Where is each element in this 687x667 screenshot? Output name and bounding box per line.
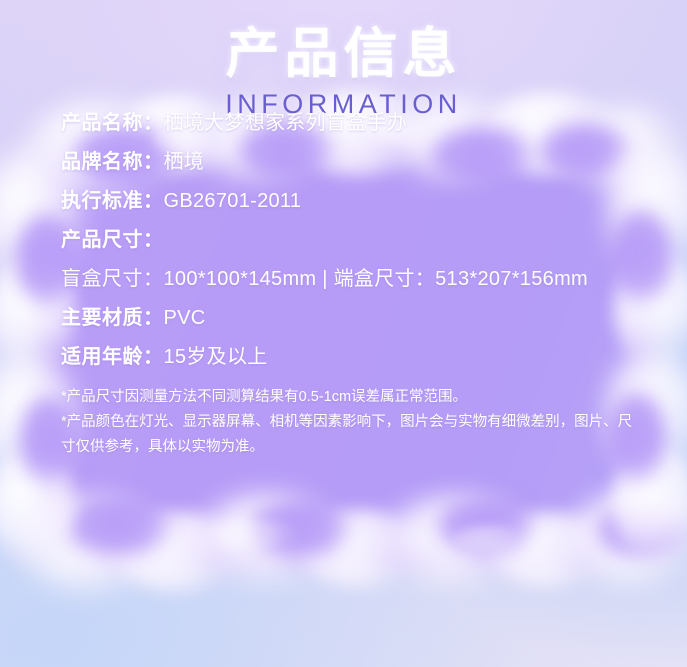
disclaimer-line-1: *产品尺寸因测量方法不同测算结果有0.5-1cm误差属正常范围。 (61, 385, 636, 410)
page-header: 产品信息 INFORMATION (0, 0, 687, 120)
info-value: PVC (164, 307, 206, 329)
info-value: 15岁及以上 (164, 346, 268, 368)
product-info-list: 产品名称：栖境大梦想家系列盲盒手办 品牌名称：栖境 执行标准：GB26701-2… (61, 104, 641, 377)
info-row-material: 主要材质：PVC (61, 299, 641, 338)
info-row-product-size-heading: 产品尺寸： (61, 221, 641, 260)
product-information-page: 产品信息 INFORMATION 产品名称：栖境大梦想家系列盲盒手办 品牌名称：… (0, 0, 687, 667)
info-label: 产品尺寸： (61, 229, 164, 251)
info-label: 执行标准： (61, 190, 164, 212)
info-label: 适用年龄： (61, 346, 164, 368)
info-label: 主要材质： (61, 307, 164, 329)
disclaimer-line-2: *产品颜色在灯光、显示器屏幕、相机等因素影响下，图片会与实物有细微差别，图片、尺… (61, 410, 636, 460)
info-row-age: 适用年龄：15岁及以上 (61, 338, 641, 377)
info-value: 100*100*145mm | 端盒尺寸：513*207*156mm (164, 268, 589, 290)
disclaimer-notes: *产品尺寸因测量方法不同测算结果有0.5-1cm误差属正常范围。 *产品颜色在灯… (61, 385, 636, 460)
info-row-standard: 执行标准：GB26701-2011 (61, 182, 641, 221)
info-label: 产品名称： (61, 112, 164, 134)
info-row-product-name: 产品名称：栖境大梦想家系列盲盒手办 (61, 104, 641, 143)
info-value: GB26701-2011 (164, 190, 302, 212)
info-row-box-size: 盲盒尺寸：100*100*145mm | 端盒尺寸：513*207*156mm (61, 260, 641, 299)
info-row-brand-name: 品牌名称：栖境 (61, 143, 641, 182)
info-value: 栖境 (164, 151, 205, 173)
info-value: 栖境大梦想家系列盲盒手办 (164, 112, 408, 134)
info-label: 盲盒尺寸： (61, 268, 164, 290)
info-label: 品牌名称： (61, 151, 164, 173)
page-title-cn: 产品信息 (0, 0, 687, 83)
